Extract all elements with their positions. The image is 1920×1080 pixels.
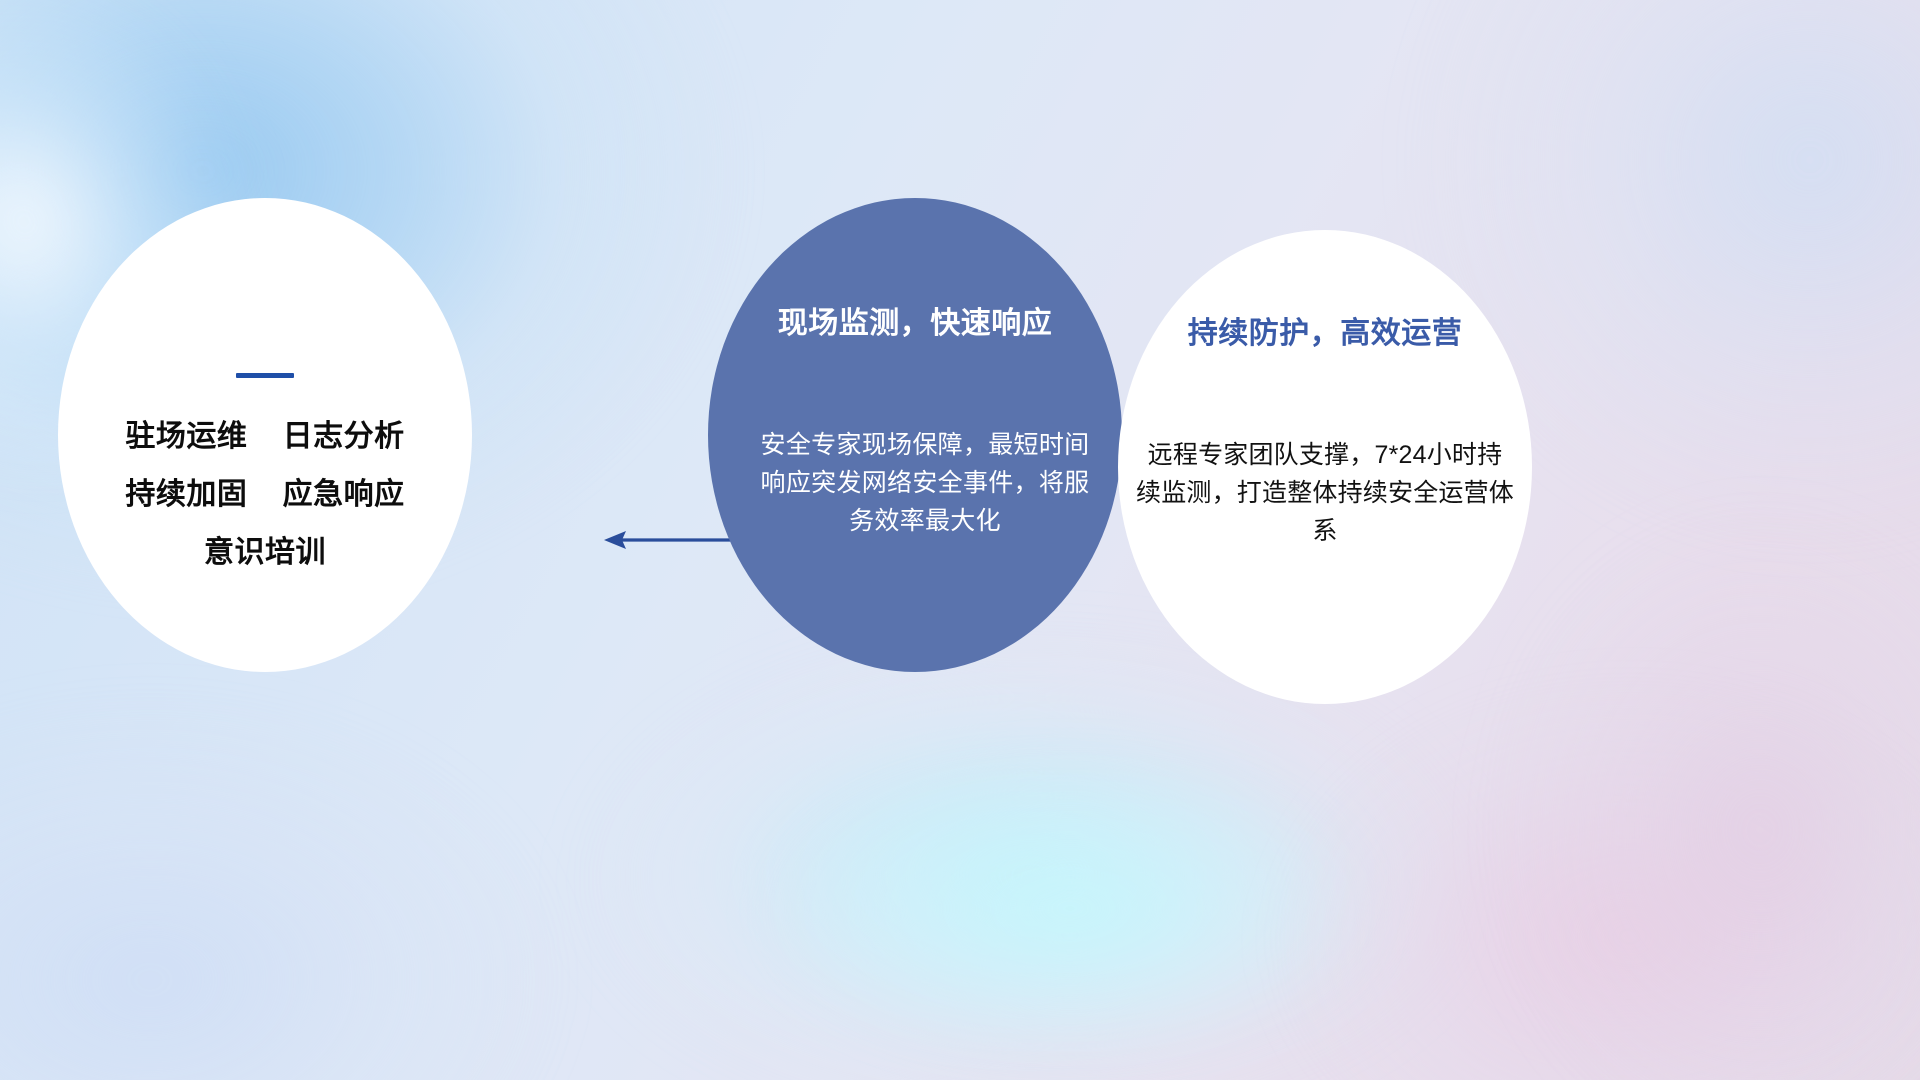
left-capability-circle: 驻场运维 日志分析 持续加固 应急响应 意识培训: [58, 198, 472, 672]
right-operations-circle: 持续防护，高效运营 远程专家团队支撑，7*24小时持续监测，打造整体持续安全运营…: [1118, 230, 1532, 704]
background-glow-cyan: [580, 640, 1480, 1080]
background-glow-bottom-left: [0, 700, 560, 1080]
right-circle-body: 远程专家团队支撑，7*24小时持续监测，打造整体持续安全运营体系: [1136, 436, 1514, 550]
left-capability-line-3: 意识培训: [58, 538, 472, 568]
right-circle-title: 持续防护，高效运营: [1118, 308, 1532, 352]
slide-canvas: 驻场运维 日志分析 持续加固 应急响应 意识培训 现场监测，快速响应 安全专家现…: [0, 0, 1920, 1080]
background-glow-pink: [1280, 690, 1920, 1080]
background-glow-pink-right: [1500, 520, 1920, 1080]
left-circle-content: 驻场运维 日志分析 持续加固 应急响应 意识培训: [58, 373, 472, 568]
left-capability-line-1: 驻场运维 日志分析: [58, 422, 472, 452]
middle-monitoring-circle: 现场监测，快速响应 安全专家现场保障，最短时间响应突发网络安全事件，将服务效率最…: [708, 198, 1122, 672]
left-capability-line-2: 持续加固 应急响应: [58, 480, 472, 510]
middle-circle-title: 现场监测，快速响应: [708, 298, 1122, 342]
background-glow-cyan-inner: [760, 760, 1380, 1080]
left-divider-dash: [236, 373, 294, 378]
middle-circle-body: 安全专家现场保障，最短时间响应突发网络安全事件，将服务效率最大化: [752, 426, 1098, 540]
